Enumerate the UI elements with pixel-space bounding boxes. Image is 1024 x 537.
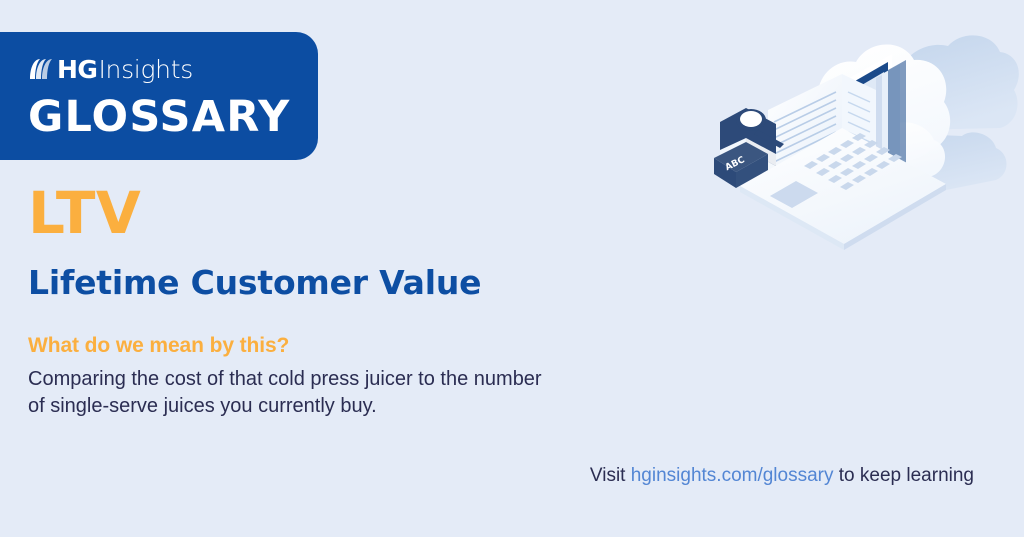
footer-prefix: Visit	[590, 465, 631, 486]
isometric-cloud-laptop-illustration: ABC	[700, 18, 1024, 250]
hg-insights-logo: HG Insights	[28, 52, 318, 86]
definition-text: Comparing the cost of that cold press ju…	[28, 366, 678, 420]
glossary-link[interactable]: hginsights.com/glossary	[631, 465, 834, 486]
badge-title: GLOSSARY	[28, 92, 318, 142]
logo-primary-text: HG	[57, 57, 97, 82]
footer-suffix: to keep learning	[834, 465, 975, 486]
definition-line-1: Comparing the cost of that cold press ju…	[28, 366, 678, 393]
footer-cta: Visit hginsights.com/glossary to keep le…	[590, 464, 974, 488]
definition-prompt: What do we mean by this?	[28, 333, 289, 359]
glossary-term-full-name: Lifetime Customer Value	[28, 263, 481, 303]
glossary-badge: HG Insights GLOSSARY	[0, 32, 318, 160]
logo-secondary-text: Insights	[98, 57, 192, 82]
glossary-term-abbreviation: LTV	[28, 182, 141, 244]
hg-arcs-icon	[28, 57, 54, 81]
glossary-card: HG Insights GLOSSARY LTV Lifetime Custom…	[0, 0, 1024, 537]
definition-line-2: of single-serve juices you currently buy…	[28, 393, 678, 420]
